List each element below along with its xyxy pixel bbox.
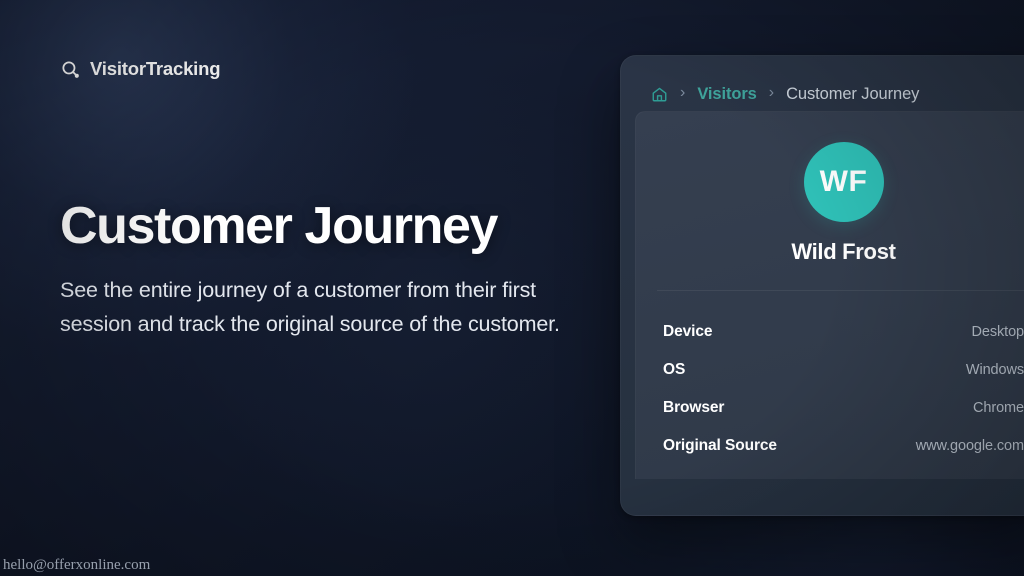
visitor-profile: WF Wild Frost xyxy=(636,112,1024,265)
detail-label: Browser xyxy=(663,399,724,417)
detail-label: Original Source xyxy=(663,437,777,455)
watermark-email: hello@offerxonline.com xyxy=(3,557,150,574)
home-icon[interactable] xyxy=(651,86,668,103)
magnifier-cursor-icon xyxy=(60,59,81,80)
avatar: WF xyxy=(804,142,884,222)
visitor-details-list: Device Desktop OS Windows Browser Chrome… xyxy=(636,291,1024,465)
detail-label: Device xyxy=(663,323,712,341)
page-title: Customer Journey xyxy=(60,200,590,252)
detail-value: Windows xyxy=(966,362,1024,378)
visitor-detail-card: WF Wild Frost Device Desktop OS Windows … xyxy=(635,111,1024,479)
detail-value: Chrome xyxy=(973,400,1024,416)
slide-background: VisitorTracking Customer Journey See the… xyxy=(0,0,1024,576)
avatar-initials: WF xyxy=(820,165,868,199)
breadcrumb-current: Customer Journey xyxy=(786,85,919,104)
detail-value: Desktop xyxy=(972,324,1024,340)
visitor-panel: › Visitors › Customer Journey WF Wild Fr… xyxy=(620,55,1024,516)
table-row: Browser Chrome xyxy=(663,389,1024,427)
table-row: OS Windows xyxy=(663,351,1024,389)
breadcrumb-separator-1: › xyxy=(680,85,685,101)
breadcrumb-separator-2: › xyxy=(769,85,774,101)
brand-logo: VisitorTracking xyxy=(60,58,220,80)
hero-subtitle: See the entire journey of a customer fro… xyxy=(60,274,560,342)
detail-value[interactable]: www.google.com xyxy=(916,438,1024,454)
visitor-name: Wild Frost xyxy=(636,239,1024,265)
breadcrumb-link-visitors[interactable]: Visitors xyxy=(697,85,756,104)
detail-label: OS xyxy=(663,361,685,379)
breadcrumb: › Visitors › Customer Journey xyxy=(621,56,1024,112)
brand-name: VisitorTracking xyxy=(90,58,220,80)
table-row: Original Source www.google.com xyxy=(663,427,1024,465)
table-row: Device Desktop xyxy=(663,313,1024,351)
hero-section: Customer Journey See the entire journey … xyxy=(60,200,590,342)
